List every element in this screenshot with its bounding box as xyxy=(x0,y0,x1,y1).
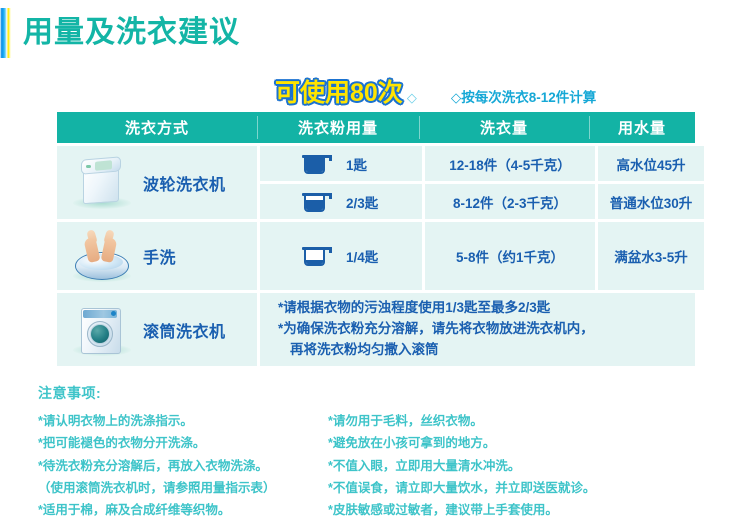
page-title: 用量及洗衣建议 xyxy=(23,18,240,48)
water-cell: 普通水位30升 xyxy=(598,184,704,219)
subheader: 可使用80次 ◇ ◇按每次洗衣8-12件计算 xyxy=(275,74,735,106)
caution-item: *皮肤敏感或过敏者，建议带上手套使用。 xyxy=(328,499,658,521)
dose-text: 1/4匙 xyxy=(346,246,380,266)
dose-cell: 1/4匙 xyxy=(260,222,422,290)
method-cell-hand-wash: 手洗 xyxy=(57,222,257,290)
caution-item: *待洗衣粉充分溶解后，再放入衣物洗涤。 xyxy=(38,455,328,477)
table-row: 滚筒洗衣机 *请根据衣物的污浊程度使用1/3匙至最多2/3匙 *为确保洗衣粉充分… xyxy=(57,293,695,366)
column-header-method: 洗衣方式 xyxy=(57,112,257,143)
front-load-notes-cell: *请根据衣物的污浊程度使用1/3匙至最多2/3匙 *为确保洗衣粉充分溶解，请先将… xyxy=(260,293,695,366)
cautions-section: 注意事项: *请认明衣物上的洗涤指示。 *把可能褪色的衣物分开洗涤。 *待洗衣粉… xyxy=(38,383,718,521)
dose-column-top-load: 1匙 2/3匙 xyxy=(260,146,422,219)
dose-cell: 1匙 xyxy=(260,146,422,181)
method-label: 手洗 xyxy=(143,244,176,268)
calculation-note: ◇按每次洗衣8-12件计算 xyxy=(451,91,596,105)
water-column-top-load: 高水位45升 普通水位30升 xyxy=(598,146,704,219)
use-count-badge: 可使用80次 xyxy=(275,81,403,106)
caution-item: *不值入眼，立即用大量清水冲洗。 xyxy=(328,455,658,477)
table-header-row: 洗衣方式 洗衣粉用量 洗衣量 用水量 xyxy=(57,112,695,143)
scoop-full-icon xyxy=(302,153,332,175)
caution-item: *不值误食，请立即大量饮水，并立即送医就诊。 xyxy=(328,477,658,499)
caution-item: *把可能褪色的衣物分开洗涤。 xyxy=(38,432,328,454)
accent-bar-icon xyxy=(0,8,11,58)
water-cell: 满盆水3-5升 xyxy=(598,222,704,290)
cautions-title: 注意事项: xyxy=(38,383,718,403)
method-label: 滚筒洗衣机 xyxy=(143,318,226,342)
caution-item: *请勿用于毛料，丝织衣物。 xyxy=(328,410,658,432)
usage-table: 洗衣方式 洗衣粉用量 洗衣量 用水量 波轮洗衣机 1匙 xyxy=(57,112,695,366)
table-row: 波轮洗衣机 1匙 2/3匙 12-18件（4-5千克） 8-12件（2-3千克） xyxy=(57,146,695,219)
load-cell: 8-12件（2-3千克） xyxy=(425,184,595,219)
water-cell: 高水位45升 xyxy=(598,146,704,181)
dose-text: 2/3匙 xyxy=(346,192,380,212)
front-load-note: 再将洗衣粉均匀撒入滚筒 xyxy=(278,340,594,361)
table-row: 手洗 1/4匙 5-8件（约1千克） 满盆水3-5升 xyxy=(57,222,695,290)
scoop-two-thirds-icon xyxy=(302,191,332,213)
cautions-left-column: *请认明衣物上的洗涤指示。 *把可能褪色的衣物分开洗涤。 *待洗衣粉充分溶解后，… xyxy=(38,410,328,521)
hand-wash-icon xyxy=(65,226,137,286)
dose-text: 1匙 xyxy=(346,154,380,174)
caution-item: （使用滚筒洗衣机时，请参照用量指示表） xyxy=(38,477,328,499)
column-header-load: 洗衣量 xyxy=(419,112,589,143)
caution-item: *适用于棉，麻及合成纤维等织物。 xyxy=(38,499,328,521)
cautions-right-column: *请勿用于毛料，丝织衣物。 *避免放在小孩可拿到的地方。 *不值入眼，立即用大量… xyxy=(328,410,658,521)
load-column-top-load: 12-18件（4-5千克） 8-12件（2-3千克） xyxy=(425,146,595,219)
top-load-washer-icon xyxy=(65,153,137,213)
method-label: 波轮洗衣机 xyxy=(143,171,226,195)
dose-cell: 2/3匙 xyxy=(260,184,422,219)
front-load-washer-icon xyxy=(65,300,137,360)
method-cell-front-load: 滚筒洗衣机 xyxy=(57,293,257,366)
column-header-dose: 洗衣粉用量 xyxy=(257,112,419,143)
scoop-quarter-icon xyxy=(302,245,332,267)
diamond-icon: ◇ xyxy=(407,91,417,104)
page-header: 用量及洗衣建议 xyxy=(0,8,240,58)
front-load-note: *请根据衣物的污浊程度使用1/3匙至最多2/3匙 xyxy=(278,298,594,319)
method-cell-top-load: 波轮洗衣机 xyxy=(57,146,257,219)
column-header-water: 用水量 xyxy=(589,112,695,143)
caution-item: *请认明衣物上的洗涤指示。 xyxy=(38,410,328,432)
load-cell: 12-18件（4-5千克） xyxy=(425,146,595,181)
load-cell: 5-8件（约1千克） xyxy=(425,222,595,290)
front-load-note: *为确保洗衣粉充分溶解，请先将衣物放进洗衣机内， xyxy=(278,319,594,340)
caution-item: *避免放在小孩可拿到的地方。 xyxy=(328,432,658,454)
